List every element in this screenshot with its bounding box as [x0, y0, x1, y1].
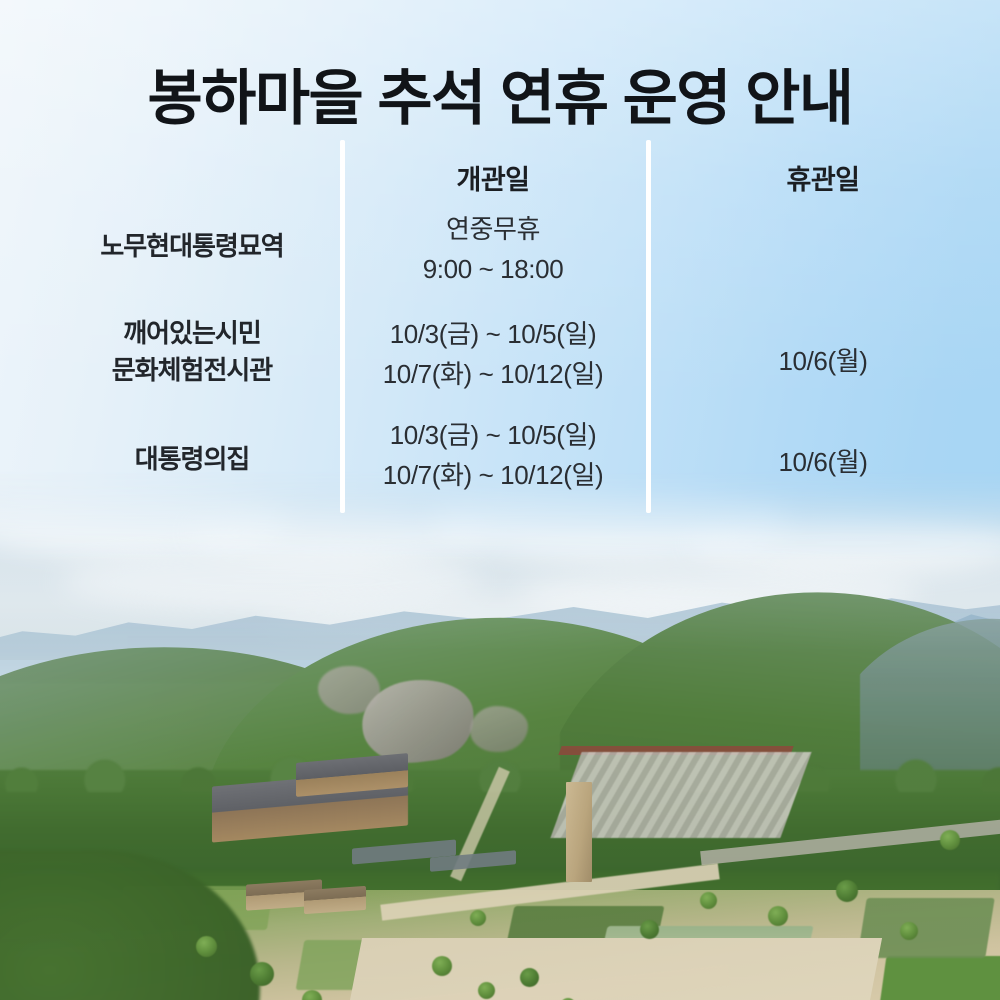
open-line-1: 10/3(금) ~ 10/5(일) [340, 315, 646, 355]
open-line-2: 10/7(화) ~ 10/12(일) [340, 456, 646, 496]
tree [900, 922, 918, 940]
table-cell-closed-exhibition: 10/6(월) [646, 342, 1000, 382]
memorial-tower [566, 782, 592, 882]
open-line-2: 9:00 ~ 18:00 [340, 250, 646, 290]
village-landscape-photo [0, 470, 1000, 1000]
schedule-table: 개관일 휴관일 노무현대통령묘역 연중무휴 9:00 ~ 18:00 깨어있는시… [0, 140, 1000, 515]
table-cell-open-exhibition: 10/3(금) ~ 10/5(일) 10/7(화) ~ 10/12(일) [340, 315, 646, 394]
tree [768, 906, 788, 926]
tree [836, 880, 858, 902]
facility-line-2: 문화체험전시관 [44, 352, 340, 389]
tree [478, 982, 495, 999]
tree [700, 892, 717, 909]
tree [196, 936, 217, 957]
traditional-hut [304, 886, 366, 914]
field-plot [874, 956, 1000, 1000]
tree [432, 956, 452, 976]
table-cell-closed-presidents-house: 10/6(월) [646, 443, 1000, 483]
column-header-closed-days: 휴관일 [646, 158, 1000, 197]
poster-root: 봉하마을 추석 연휴 운영 안내 개관일 휴관일 노무현대통령묘역 연중무휴 9… [0, 0, 1000, 1000]
table-cell-open-presidents-house: 10/3(금) ~ 10/5(일) 10/7(화) ~ 10/12(일) [340, 416, 646, 495]
tree [640, 920, 659, 939]
page-title: 봉하마을 추석 연휴 운영 안내 [0, 64, 1000, 135]
open-line-1: 10/3(금) ~ 10/5(일) [340, 416, 646, 456]
column-header-open-days: 개관일 [340, 158, 646, 197]
table-row-label-exhibition: 깨어있는시민 문화체험전시관 [44, 315, 340, 389]
table-row-label-presidents-house: 대통령의집 [44, 441, 340, 478]
tree [940, 830, 960, 850]
table-cell-open-memorial: 연중무휴 9:00 ~ 18:00 [340, 210, 646, 289]
tree [250, 962, 274, 986]
facility-line-1: 깨어있는시민 [44, 315, 340, 352]
table-row-label-memorial: 노무현대통령묘역 [44, 228, 340, 265]
tree [470, 910, 486, 926]
tree [520, 968, 539, 987]
open-line-1: 연중무휴 [340, 210, 646, 250]
open-line-2: 10/7(화) ~ 10/12(일) [340, 355, 646, 395]
